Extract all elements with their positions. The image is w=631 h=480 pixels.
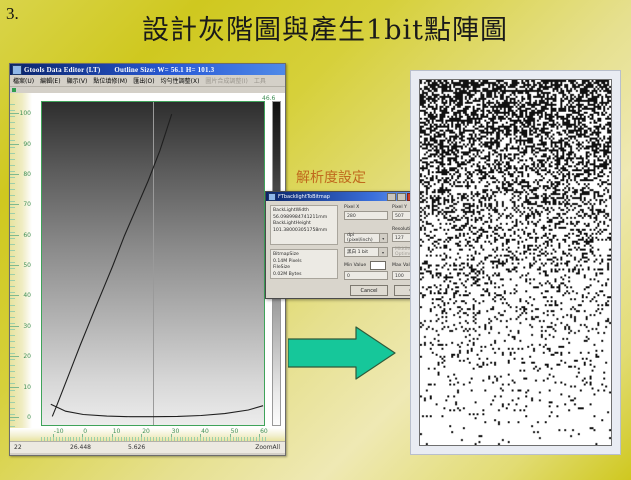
- dialog-title: FTbacklightToBitmap: [278, 194, 387, 200]
- status-zoom-all[interactable]: ZoomAll: [255, 444, 285, 451]
- y-axis-minor-tick: [10, 250, 15, 251]
- status-cell-2: 26.448: [66, 444, 124, 451]
- x-axis-minor-tick: [126, 437, 127, 441]
- page-title: 設計灰階圖與產生1bit點陣圖: [90, 8, 560, 47]
- y-axis-minor-tick: [10, 305, 15, 306]
- y-axis-minor-tick: [10, 335, 15, 336]
- x-axis-minor-tick: [153, 437, 154, 441]
- x-axis-minor-tick: [44, 437, 45, 441]
- y-axis-major-tick: [10, 295, 19, 296]
- x-axis-minor-tick: [200, 437, 201, 441]
- y-axis-minor-tick: [10, 189, 15, 190]
- resolution-unit-select[interactable]: dpi (pixel/inch) ▾: [344, 233, 388, 243]
- y-axis-minor-tick: [10, 371, 15, 372]
- x-axis-minor-tick: [147, 437, 148, 441]
- y-axis-minor-tick: [10, 323, 15, 324]
- x-axis-minor-tick: [41, 437, 42, 441]
- x-axis-minor-tick: [265, 437, 266, 441]
- y-axis-minor-tick: [10, 110, 15, 111]
- x-axis-minor-tick: [47, 437, 48, 441]
- tool-square-icon[interactable]: [12, 88, 16, 92]
- x-axis-minor-tick: [103, 437, 104, 441]
- dialog-title-bar: FTbacklightToBitmap: [266, 192, 418, 201]
- y-axis-tick-label: 70: [23, 201, 31, 208]
- menu-item-view[interactable]: 顯示(V): [67, 76, 88, 85]
- x-axis-minor-tick: [180, 437, 181, 441]
- x-axis-minor-tick: [238, 437, 239, 441]
- menu-item-tools: 工具: [254, 76, 266, 85]
- x-axis-minor-tick: [215, 437, 216, 441]
- x-axis-minor-tick: [94, 437, 95, 441]
- x-axis-ruler: -100102030405060: [10, 428, 285, 441]
- y-axis-minor-tick: [10, 262, 15, 263]
- y-axis-tick-label: 10: [23, 384, 31, 391]
- x-axis-minor-tick: [150, 437, 151, 441]
- y-axis-major-tick: [10, 387, 19, 388]
- y-axis-minor-tick: [10, 390, 15, 391]
- pixel-x-input[interactable]: 280: [344, 211, 388, 220]
- y-axis-minor-tick: [10, 317, 15, 318]
- x-axis-minor-tick: [100, 437, 101, 441]
- y-axis-minor-tick: [10, 159, 15, 160]
- x-axis-minor-tick: [141, 437, 142, 441]
- menu-item-edit[interactable]: 編輯(E): [40, 76, 60, 85]
- y-axis-minor-tick: [10, 408, 15, 409]
- x-axis-minor-tick: [218, 437, 219, 441]
- app-work-area[interactable]: 0102030405060708090100 46.6 -10010203040…: [10, 93, 285, 441]
- y-axis-minor-tick: [10, 420, 15, 421]
- y-axis-major-tick: [10, 356, 19, 357]
- x-axis-minor-tick: [115, 437, 116, 441]
- x-axis-minor-tick: [53, 437, 54, 441]
- color-depth-select[interactable]: 黑白 1 bit ▾: [344, 247, 388, 257]
- x-axis-minor-tick: [97, 437, 98, 441]
- color-depth-value: 黑白 1 bit: [347, 249, 368, 255]
- backlight-height-label: BackLightHeight: [273, 221, 335, 228]
- y-axis-minor-tick: [10, 177, 15, 178]
- y-axis-tick-label: 40: [23, 292, 31, 299]
- app-title: Gtools Data Editor (LT): [24, 66, 100, 74]
- x-axis-minor-tick: [185, 437, 186, 441]
- y-axis-ruler: 0102030405060708090100: [10, 93, 32, 441]
- bitmap-size-label: BitmapSize: [273, 252, 335, 259]
- y-axis-minor-tick: [10, 195, 15, 196]
- menu-item-export[interactable]: 匯出(O): [133, 76, 154, 85]
- x-axis-minor-tick: [62, 437, 63, 441]
- dialog-app-icon: [268, 193, 276, 201]
- x-axis-minor-tick: [85, 437, 86, 441]
- y-axis-minor-tick: [10, 341, 15, 342]
- y-axis-minor-tick: [10, 232, 15, 233]
- x-axis-minor-tick: [174, 437, 175, 441]
- gradient-plot-panel[interactable]: [41, 101, 265, 426]
- x-axis-minor-tick: [76, 437, 77, 441]
- app-icon: [12, 65, 22, 75]
- flow-arrow-icon: [288, 325, 396, 382]
- x-axis-minor-tick: [135, 437, 136, 441]
- x-axis-minor-tick: [206, 437, 207, 441]
- x-axis-minor-tick: [191, 437, 192, 441]
- y-axis-minor-tick: [10, 140, 15, 141]
- y-axis-major-tick: [10, 174, 19, 175]
- min-value-label: Min Value: [344, 263, 366, 268]
- dialog-body: BackLightWidth 56.0989984741211mm BackLi…: [266, 201, 418, 300]
- app-outline-size: Outline Size: W= 56.1 H= 101.3: [114, 66, 214, 74]
- cancel-button[interactable]: Cancel: [350, 285, 388, 296]
- x-axis-minor-tick: [162, 437, 163, 441]
- y-axis-minor-tick: [10, 426, 15, 427]
- bitmap-filesize-label: FileSize: [273, 265, 335, 272]
- y-axis-minor-tick: [10, 219, 15, 220]
- app-status-bar: 22 26.448 5.626 ZoomAll: [10, 441, 285, 453]
- y-axis-minor-tick: [10, 104, 15, 105]
- x-axis-minor-tick: [59, 437, 60, 441]
- y-axis-minor-tick: [10, 280, 15, 281]
- x-axis-minor-tick: [68, 437, 69, 441]
- x-axis-minor-tick: [209, 437, 210, 441]
- app-menu-bar[interactable]: 檔案(U) 編輯(E) 顯示(V) 點位填修(M) 匯出(O) 均勻性調整(X)…: [10, 75, 285, 87]
- y-axis-minor-tick: [10, 134, 15, 135]
- menu-item-image-compose: 圖片合成調整(I): [205, 76, 247, 85]
- x-axis-minor-tick: [144, 437, 145, 441]
- x-axis-minor-tick: [177, 437, 178, 441]
- x-axis-minor-tick: [203, 437, 204, 441]
- x-axis-minor-tick: [73, 437, 74, 441]
- x-axis-tick-label: 40: [201, 428, 209, 435]
- y-axis-minor-tick: [10, 268, 15, 269]
- bitmap-filesize-value: 0.02M Bytes: [273, 272, 335, 279]
- x-axis-minor-tick: [241, 437, 242, 441]
- x-axis-minor-tick: [244, 437, 245, 441]
- x-axis-minor-tick: [132, 437, 133, 441]
- y-axis-tick-label: 30: [23, 323, 31, 330]
- x-axis-minor-tick: [65, 437, 66, 441]
- app-title-bar: Gtools Data Editor (LT) Outline Size: W=…: [10, 64, 285, 75]
- x-axis-minor-tick: [236, 437, 237, 441]
- x-axis-minor-tick: [50, 437, 51, 441]
- x-axis-minor-tick: [188, 437, 189, 441]
- x-axis-minor-tick: [109, 437, 110, 441]
- y-axis-tick-label: 100: [20, 110, 31, 117]
- y-axis-minor-tick: [10, 153, 15, 154]
- pixel-y-label: Pixel Y: [392, 205, 407, 210]
- y-axis-minor-tick: [10, 171, 15, 172]
- x-axis-minor-tick: [256, 437, 257, 441]
- y-axis-major-tick: [10, 417, 19, 418]
- x-axis-minor-tick: [197, 437, 198, 441]
- x-axis-minor-tick: [230, 437, 231, 441]
- maximize-icon[interactable]: [397, 193, 406, 201]
- menu-item-uniformity[interactable]: 均勻性調整(X): [161, 76, 200, 85]
- x-axis-minor-tick: [106, 437, 107, 441]
- x-axis-minor-tick: [224, 437, 225, 441]
- x-axis-tick-label: 60: [260, 428, 268, 435]
- resolution-annotation: 解析度設定: [296, 167, 366, 187]
- x-axis-minor-tick: [88, 437, 89, 441]
- y-axis-minor-tick: [10, 414, 15, 415]
- resolution-unit-value: dpi (pixel/inch): [347, 233, 379, 243]
- y-axis-minor-tick: [10, 329, 15, 330]
- min-value-input[interactable]: 0: [344, 271, 388, 280]
- y-axis-tick-label: 90: [23, 141, 31, 148]
- y-axis-minor-tick: [10, 286, 15, 287]
- y-axis-minor-tick: [10, 298, 15, 299]
- status-cell-1: 22: [10, 444, 66, 451]
- y-axis-tick-label: 80: [23, 171, 31, 178]
- y-axis-major-tick: [10, 235, 19, 236]
- x-axis-minor-tick: [82, 437, 83, 441]
- y-axis-minor-tick: [10, 201, 15, 202]
- y-axis-tick-label: 50: [23, 262, 31, 269]
- y-axis-minor-tick: [10, 244, 15, 245]
- x-axis-minor-tick: [253, 437, 254, 441]
- y-axis-minor-tick: [10, 274, 15, 275]
- y-axis-minor-tick: [10, 238, 15, 239]
- menu-item-point-edit[interactable]: 點位填修(M): [93, 76, 127, 85]
- backlight-info-panel: BackLightWidth 56.0989984741211mm BackLi…: [270, 205, 338, 245]
- y-axis-minor-tick: [10, 147, 15, 148]
- x-axis-minor-tick: [70, 437, 71, 441]
- backlight-width-label: BackLightWidth: [273, 208, 335, 215]
- y-axis-minor-tick: [10, 396, 15, 397]
- y-axis-minor-tick: [10, 311, 15, 312]
- status-cell-3: 5.626: [124, 444, 255, 451]
- bitmap-size-panel: BitmapSize 0.14M Pixels FileSize 0.02M B…: [270, 249, 338, 279]
- y-axis-tick-label: 60: [23, 232, 31, 239]
- dithered-bitmap[interactable]: [419, 79, 612, 446]
- y-axis-minor-tick: [10, 292, 15, 293]
- x-axis-minor-tick: [138, 437, 139, 441]
- y-axis-minor-tick: [10, 226, 15, 227]
- x-axis-minor-tick: [221, 437, 222, 441]
- x-axis-minor-tick: [124, 437, 125, 441]
- y-axis-minor-tick: [10, 183, 15, 184]
- menu-item-file[interactable]: 檔案(U): [13, 76, 34, 85]
- x-axis-tick-label: 10: [113, 428, 121, 435]
- x-axis-tick-label: 20: [142, 428, 150, 435]
- x-axis-minor-tick: [171, 437, 172, 441]
- y-axis-minor-tick: [10, 402, 15, 403]
- x-axis-minor-tick: [91, 437, 92, 441]
- y-axis-major-tick: [10, 144, 19, 145]
- y-axis-major-tick: [10, 326, 19, 327]
- y-axis-major-tick: [10, 204, 19, 205]
- x-axis-tick-label: 0: [83, 428, 87, 435]
- y-axis-minor-tick: [10, 256, 15, 257]
- x-axis-minor-tick: [259, 437, 260, 441]
- y-axis-minor-tick: [10, 359, 15, 360]
- x-axis-minor-tick: [250, 437, 251, 441]
- y-axis-minor-tick: [10, 165, 15, 166]
- x-axis-minor-tick: [159, 437, 160, 441]
- y-axis-minor-tick: [10, 116, 15, 117]
- gtools-app-window[interactable]: Gtools Data Editor (LT) Outline Size: W=…: [9, 63, 286, 456]
- y-axis-tick-label: 20: [23, 353, 31, 360]
- y-axis-major-tick: [10, 113, 19, 114]
- x-axis-minor-tick: [233, 437, 234, 441]
- min-color-swatch[interactable]: [370, 261, 386, 270]
- backlight-to-bitmap-dialog[interactable]: FTbacklightToBitmap BackLightWidth 56.09…: [265, 191, 419, 299]
- bitmap-output-frame: [410, 70, 621, 455]
- x-axis-tick-label: -10: [54, 428, 64, 435]
- y-axis-minor-tick: [10, 213, 15, 214]
- x-axis-tick-label: 30: [172, 428, 180, 435]
- backlight-height-value: 101.380003051758mm: [273, 228, 335, 235]
- minimize-icon[interactable]: [387, 193, 396, 201]
- y-axis-tick-label: 0: [27, 414, 31, 421]
- y-axis-minor-tick: [10, 207, 15, 208]
- x-axis-minor-tick: [121, 437, 122, 441]
- y-axis-minor-tick: [10, 383, 15, 384]
- x-axis-minor-tick: [247, 437, 248, 441]
- x-axis-minor-tick: [212, 437, 213, 441]
- x-axis-minor-tick: [79, 437, 80, 441]
- x-axis-minor-tick: [194, 437, 195, 441]
- x-axis-minor-tick: [129, 437, 130, 441]
- x-axis-minor-tick: [182, 437, 183, 441]
- y-axis-minor-tick: [10, 128, 15, 129]
- pixel-x-label: Pixel X: [344, 205, 359, 210]
- x-axis-minor-tick: [165, 437, 166, 441]
- x-axis-minor-tick: [56, 437, 57, 441]
- chevron-down-icon[interactable]: ▾: [378, 248, 387, 256]
- y-axis-minor-tick: [10, 365, 15, 366]
- x-axis-minor-tick: [156, 437, 157, 441]
- slide-number: 3.: [6, 4, 19, 24]
- x-axis-minor-tick: [112, 437, 113, 441]
- x-axis-tick-label: 50: [231, 428, 239, 435]
- y-axis-minor-tick: [10, 353, 15, 354]
- chevron-down-icon[interactable]: ▾: [379, 234, 387, 242]
- x-axis-minor-tick: [227, 437, 228, 441]
- plot-curves: [42, 102, 266, 427]
- y-axis-major-tick: [10, 265, 19, 266]
- x-axis-minor-tick: [262, 437, 263, 441]
- y-axis-minor-tick: [10, 377, 15, 378]
- y-axis-minor-tick: [10, 347, 15, 348]
- x-axis-minor-tick: [168, 437, 169, 441]
- y-axis-minor-tick: [10, 122, 15, 123]
- x-axis-minor-tick: [118, 437, 119, 441]
